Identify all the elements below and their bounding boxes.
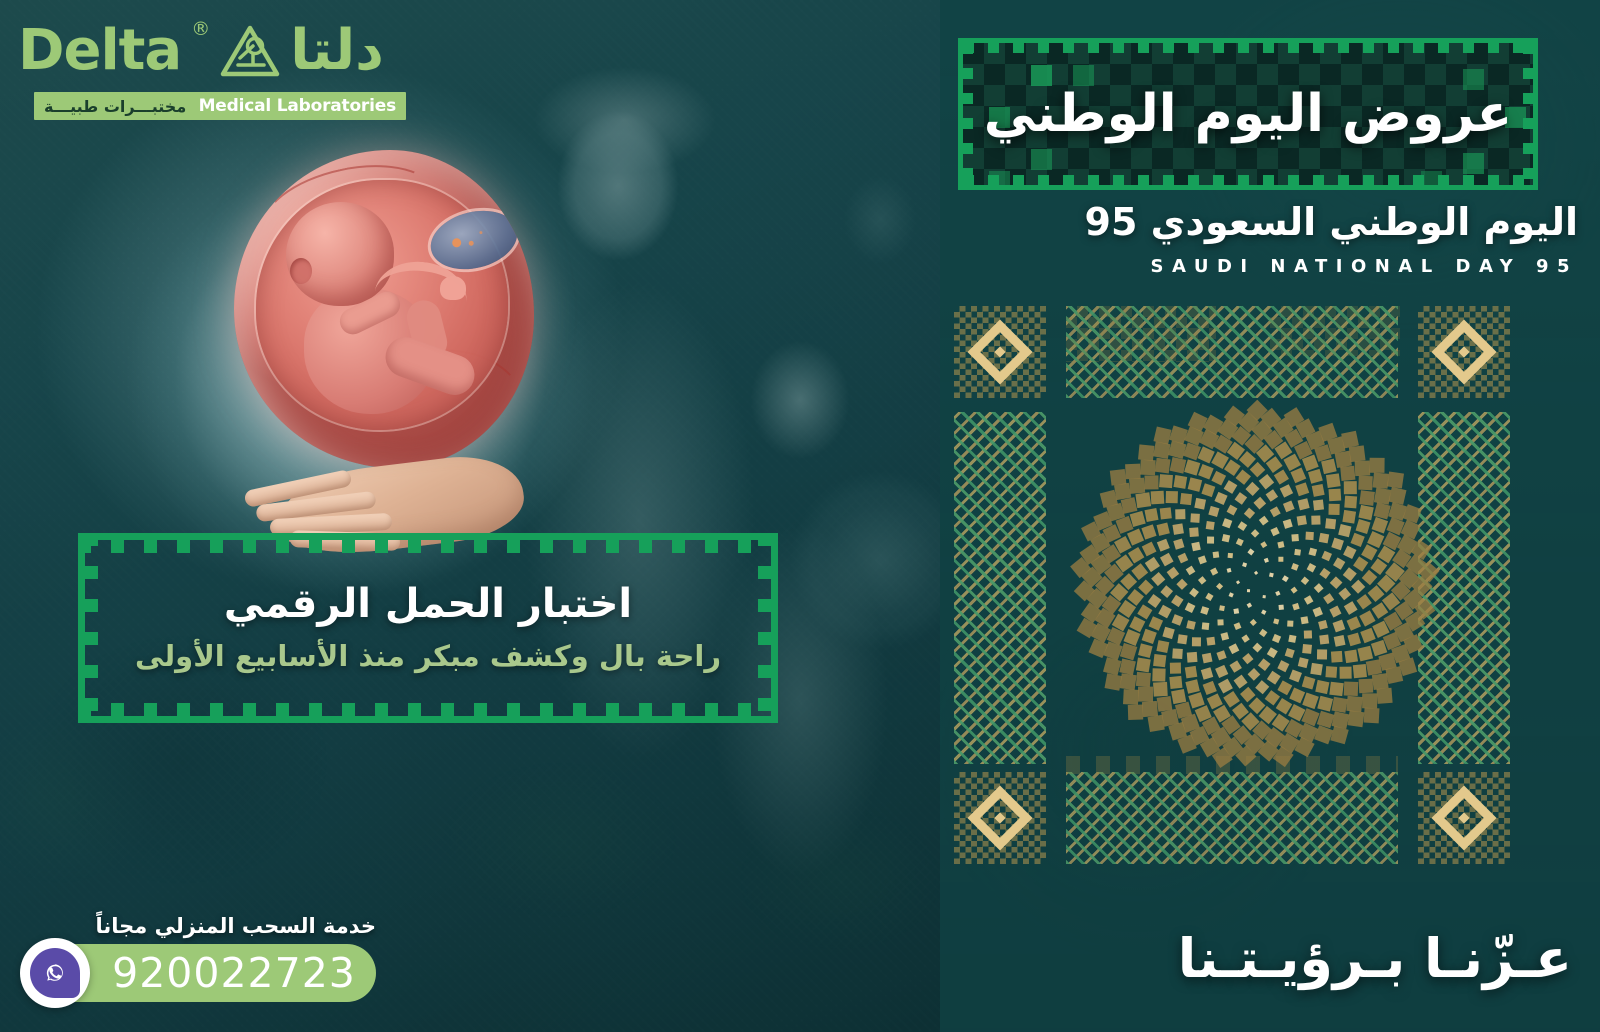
brand-name-en: Delta <box>18 23 181 79</box>
brand-tagline-en: Medical Laboratories <box>199 96 396 116</box>
registered-mark-icon: ® <box>191 18 210 40</box>
brand-name-ar: دلتا <box>290 23 384 79</box>
frame-top-edge <box>78 533 778 540</box>
checker-accent-block <box>1066 306 1216 362</box>
home-collection-note: خدمة السحب المنزلي مجاناً <box>24 914 384 938</box>
frame-left-edge <box>78 533 85 723</box>
checker-accent-block <box>1270 306 1400 356</box>
hero-panel: اختبار الحمل الرقمي راحة بال وكشف مبكر م… <box>0 0 940 1032</box>
gold-spiral-rosette <box>1075 405 1435 765</box>
frame-teeth-top <box>78 540 778 553</box>
frame-teeth-right <box>758 533 771 723</box>
fetus-ear <box>290 258 312 284</box>
whatsapp-icon <box>30 948 80 998</box>
brand-tagline-bar: Medical Laboratories مختبـــرات طبيـــة <box>34 92 406 120</box>
frame-teeth-bottom <box>78 703 778 716</box>
national-day-slogan: عـزّنـا بـرؤيـتـنا <box>972 927 1572 990</box>
diamond-motif-icon <box>1418 306 1510 398</box>
national-day-title-ar: اليوم الوطني السعودي 95 <box>1008 200 1578 244</box>
sadu-strip-left <box>954 412 1046 764</box>
promo-box: اختبار الحمل الرقمي راحة بال وكشف مبكر م… <box>78 533 778 723</box>
sadu-strip-bottom <box>1066 772 1398 864</box>
national-day-panel: عروض اليوم الوطني اليوم الوطني السعودي 9… <box>940 0 1600 1032</box>
contact-block: خدمة السحب المنزلي مجاناً 920022723 <box>24 914 384 1002</box>
whatsapp-badge[interactable] <box>20 938 90 1008</box>
diamond-motif-icon <box>954 306 1046 398</box>
fetus-illustration <box>228 150 548 550</box>
poster-canvas: اختبار الحمل الرقمي راحة بال وكشف مبكر م… <box>0 0 1600 1032</box>
frame-bottom-edge <box>78 716 778 723</box>
diamond-motif-icon <box>1418 772 1510 864</box>
frame-teeth-left <box>85 533 98 723</box>
microscope-triangle-icon <box>220 24 280 78</box>
diamond-motif-icon <box>954 772 1046 864</box>
sadu-ornament-band <box>940 300 1600 870</box>
offers-banner: عروض اليوم الوطني <box>958 38 1538 190</box>
offers-headline: عروض اليوم الوطني <box>984 84 1512 144</box>
national-day-title-en: SAUDI NATIONAL DAY 95 <box>1008 256 1578 277</box>
brand-tagline-ar: مختبـــرات طبيـــة <box>44 97 186 116</box>
frame-right-edge <box>771 533 778 723</box>
phone-number: 920022723 <box>66 949 356 997</box>
brand-logo[interactable]: Delta ® دلتا Medical Laboratories مختبــ… <box>18 14 418 124</box>
promo-subtitle: راحة بال وكشف مبكر منذ الأسابيع الأولى <box>135 639 721 674</box>
phone-pill[interactable]: 920022723 <box>46 944 376 1002</box>
amniotic-sac <box>234 150 534 468</box>
promo-title: اختبار الحمل الرقمي <box>224 582 632 627</box>
